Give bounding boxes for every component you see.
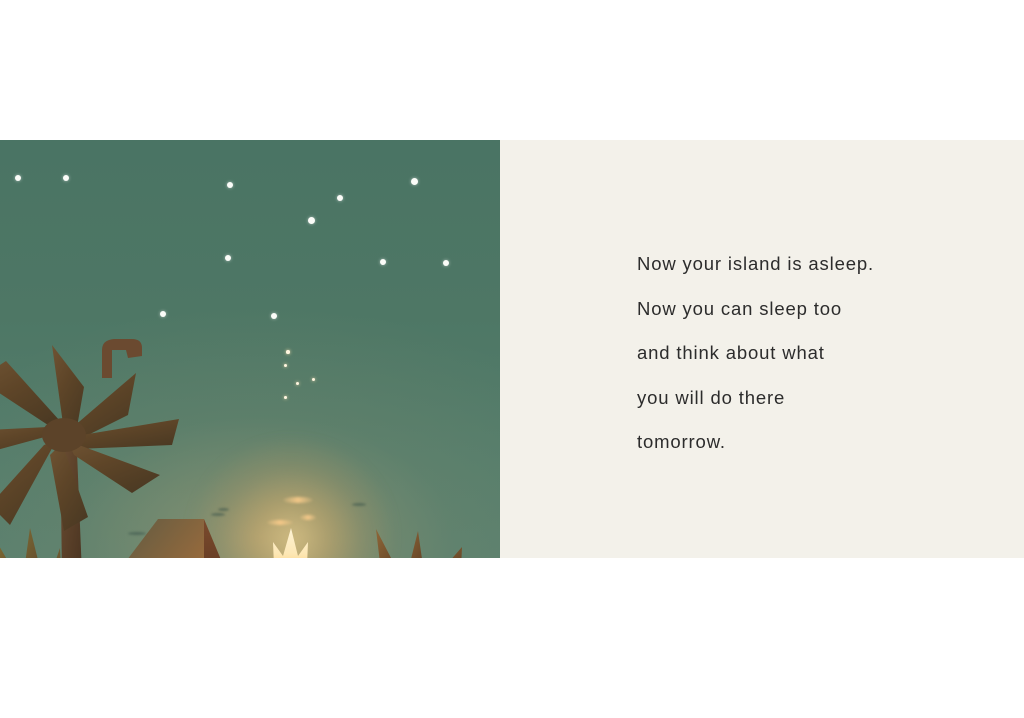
water-reflection <box>211 513 225 516</box>
spark-icon <box>284 364 287 367</box>
illustration-page <box>0 140 500 558</box>
star-icon <box>411 178 418 185</box>
page-root: Now your island is asleep.Now you can sl… <box>0 0 1024 718</box>
campfire-icon <box>252 526 330 558</box>
story-line: Now your island is asleep. <box>637 242 997 287</box>
star-icon <box>308 217 315 224</box>
story-text-block: Now your island is asleep.Now you can sl… <box>637 242 997 465</box>
star-icon <box>225 255 231 261</box>
water-reflection <box>352 503 366 506</box>
shrub-right-icon <box>338 521 470 558</box>
star-icon <box>227 182 233 188</box>
story-line: you will do there <box>637 376 997 421</box>
shrub-left-icon <box>0 528 94 558</box>
star-icon <box>160 311 166 317</box>
water-reflection <box>300 515 316 520</box>
star-icon <box>380 259 386 265</box>
text-page: Now your island is asleep.Now you can sl… <box>500 140 1024 558</box>
water-reflection <box>218 508 229 511</box>
star-icon <box>63 175 69 181</box>
star-icon <box>337 195 343 201</box>
water-reflection <box>128 532 146 535</box>
bird-icon <box>92 336 150 380</box>
water-reflection <box>283 497 313 503</box>
star-icon <box>15 175 21 181</box>
spark-icon <box>286 350 290 354</box>
story-line: tomorrow. <box>637 420 997 465</box>
story-line: Now you can sleep too <box>637 287 997 332</box>
spark-icon <box>284 396 287 399</box>
star-icon <box>443 260 449 266</box>
book-spread: Now your island is asleep.Now you can sl… <box>0 140 1024 558</box>
tent-icon <box>92 517 237 558</box>
water-reflection <box>267 520 293 525</box>
star-icon <box>271 313 277 319</box>
story-line: and think about what <box>637 331 997 376</box>
spark-icon <box>296 382 299 385</box>
